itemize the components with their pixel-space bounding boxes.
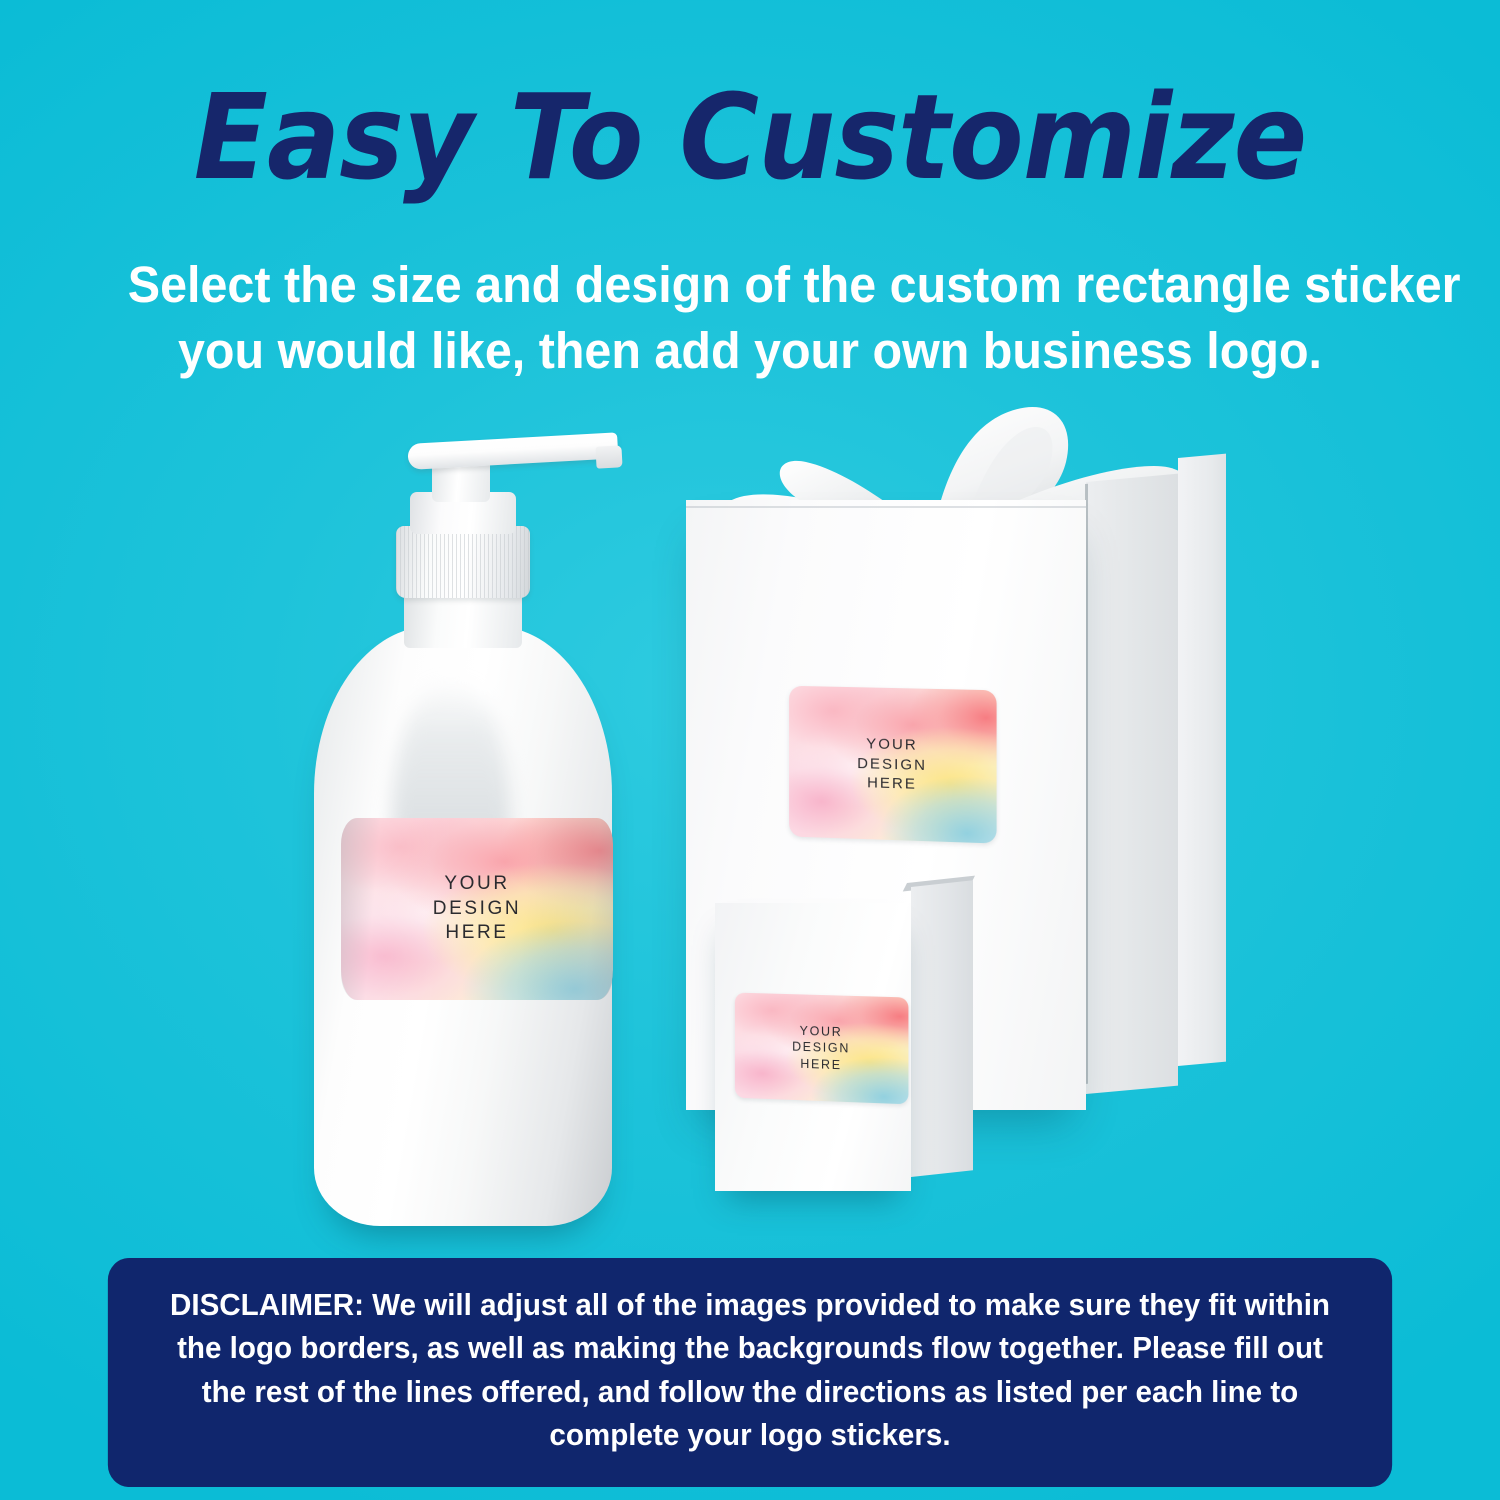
bottle-label-line-2: DESIGN [341,897,613,922]
bottle-ribbed-cap [396,526,530,598]
gift-box-side-panel [1086,474,1178,1094]
bottle-pump-nozzle-tip [595,445,622,468]
gift-box-sticker-text: YOUR DESIGN HERE [789,732,997,796]
disclaimer-banner: DISCLAIMER: We will adjust all of the im… [108,1258,1392,1487]
small-box-sticker: YOUR DESIGN HERE [735,993,909,1105]
bottle-label-line-1: YOUR [341,872,613,897]
bottle-label-text: YOUR DESIGN HERE [341,872,613,946]
bottle-pump-nozzle [407,432,618,470]
product-scene: YOUR DESIGN HERE YOUR DESIGN HERE YOUR D… [0,400,1500,1230]
subtitle: Select the size and design of the custom… [128,252,1373,385]
bottle-label-line-3: HERE [341,921,613,946]
small-box-sticker-text: YOUR DESIGN HERE [735,1021,909,1076]
small-box-side-panel [911,880,973,1177]
promo-image: Easy To Customize Select the size and de… [0,0,1500,1500]
gift-box-lid-line [686,506,1086,508]
subtitle-line-2: you would like, then add your own busine… [128,318,1373,384]
bottle-label-sticker: YOUR DESIGN HERE [341,818,613,1000]
gift-box-back-panel [1178,454,1226,1066]
page-title: Easy To Customize [60,78,1440,196]
subtitle-line-1: Select the size and design of the custom… [128,252,1373,318]
gift-box-sticker: YOUR DESIGN HERE [789,686,997,844]
